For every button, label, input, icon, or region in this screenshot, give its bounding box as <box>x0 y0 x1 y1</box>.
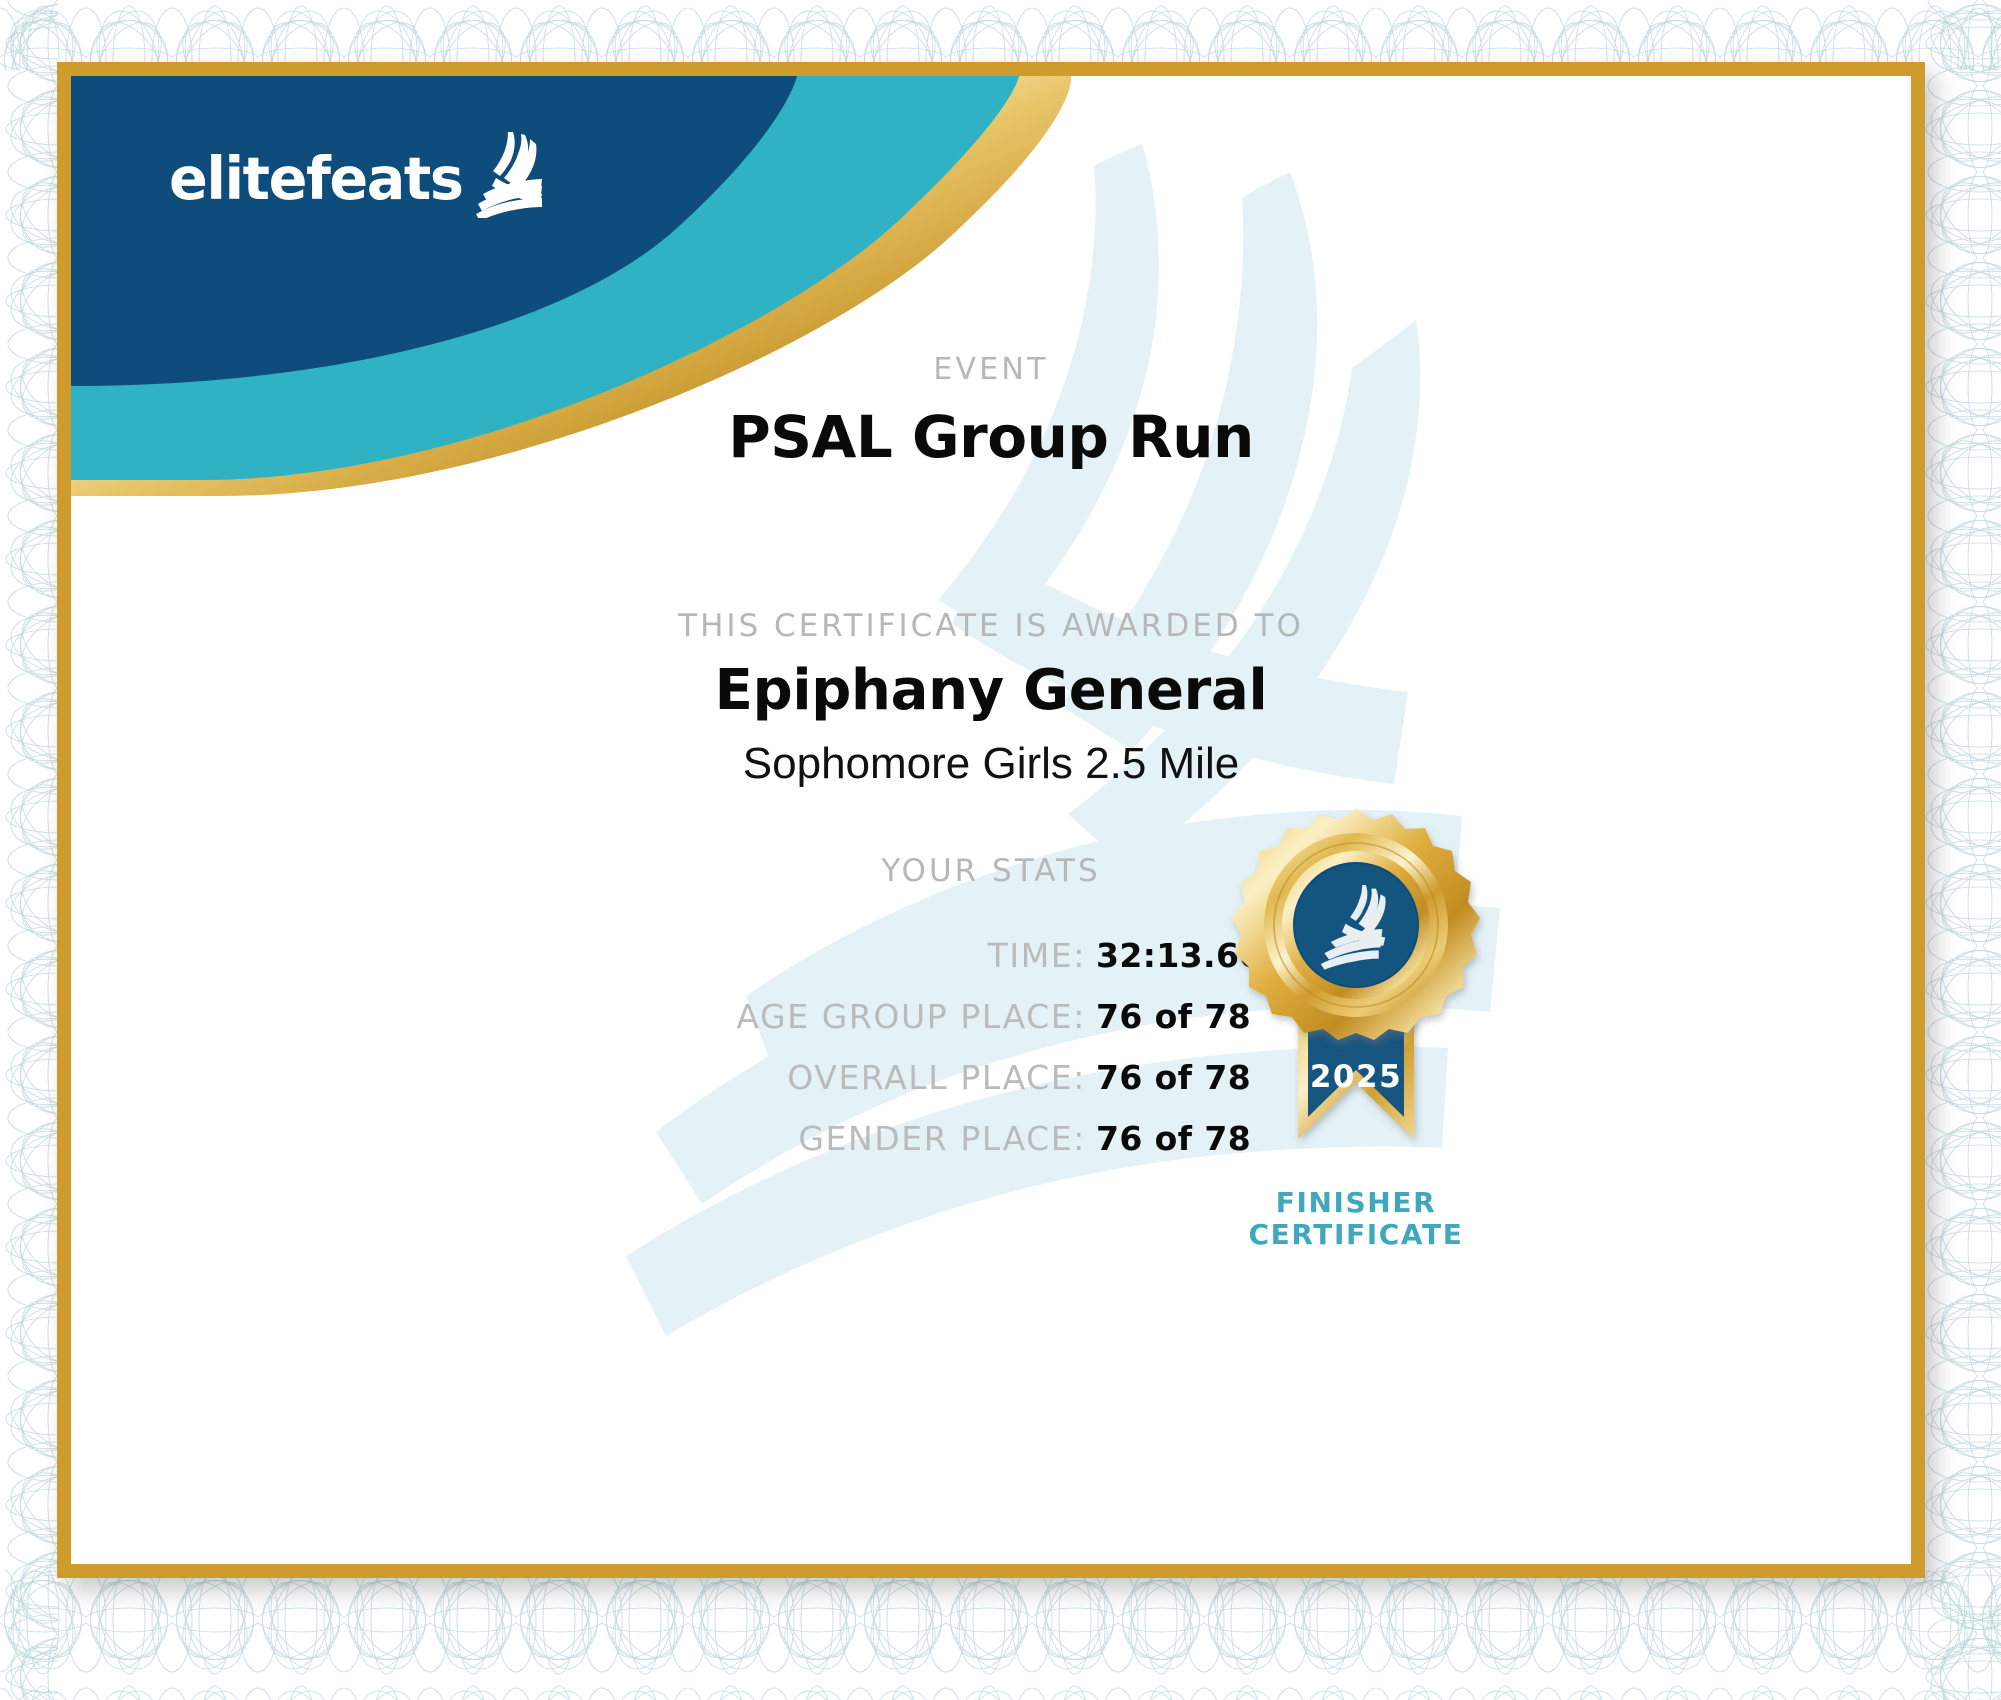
stats-list: TIME: 32:13.60 AGE GROUP PLACE: 76 of 78… <box>71 936 1911 1180</box>
certificate-content: EVENT PSAL Group Run THIS CERTIFICATE IS… <box>71 76 1911 1564</box>
awarded-to-label: THIS CERTIFICATE IS AWARDED TO <box>71 608 1911 644</box>
elitefeats-logo: elitefeats <box>169 132 542 208</box>
seal-caption: FINISHER CERTIFICATE <box>1201 1187 1511 1251</box>
stat-key: GENDER PLACE: <box>626 1119 1096 1158</box>
stat-row-gender-place: GENDER PLACE: 76 of 78 <box>71 1119 1911 1158</box>
stat-key: AGE GROUP PLACE: <box>626 997 1096 1036</box>
event-name: PSAL Group Run <box>71 403 1911 471</box>
certificate-card: elitefeats EVENT PSAL Gro <box>57 62 1925 1578</box>
medal-ribbon-icon <box>1226 801 1486 1181</box>
stat-key: OVERALL PLACE: <box>626 1058 1096 1097</box>
seal-caption-line2: CERTIFICATE <box>1201 1219 1511 1251</box>
winged-foot-icon <box>476 132 542 218</box>
recipient-name: Epiphany General <box>71 658 1911 723</box>
certificate-body: elitefeats EVENT PSAL Gro <box>71 76 1911 1564</box>
event-label: EVENT <box>71 352 1911 387</box>
recipient-division: Sophomore Girls 2.5 Mile <box>71 739 1911 789</box>
stat-row-overall-place: OVERALL PLACE: 76 of 78 <box>71 1058 1911 1097</box>
stat-row-time: TIME: 32:13.60 <box>71 936 1911 975</box>
brand-wordmark: elitefeats <box>169 149 462 208</box>
seal-year: 2025 <box>1201 1059 1511 1095</box>
stat-key: TIME: <box>626 936 1096 975</box>
your-stats-label: YOUR STATS <box>71 853 1911 889</box>
seal-caption-line1: FINISHER <box>1201 1187 1511 1219</box>
finisher-seal: 2025 FINISHER CERTIFICATE <box>1201 801 1511 1251</box>
stat-row-age-group-place: AGE GROUP PLACE: 76 of 78 <box>71 997 1911 1036</box>
